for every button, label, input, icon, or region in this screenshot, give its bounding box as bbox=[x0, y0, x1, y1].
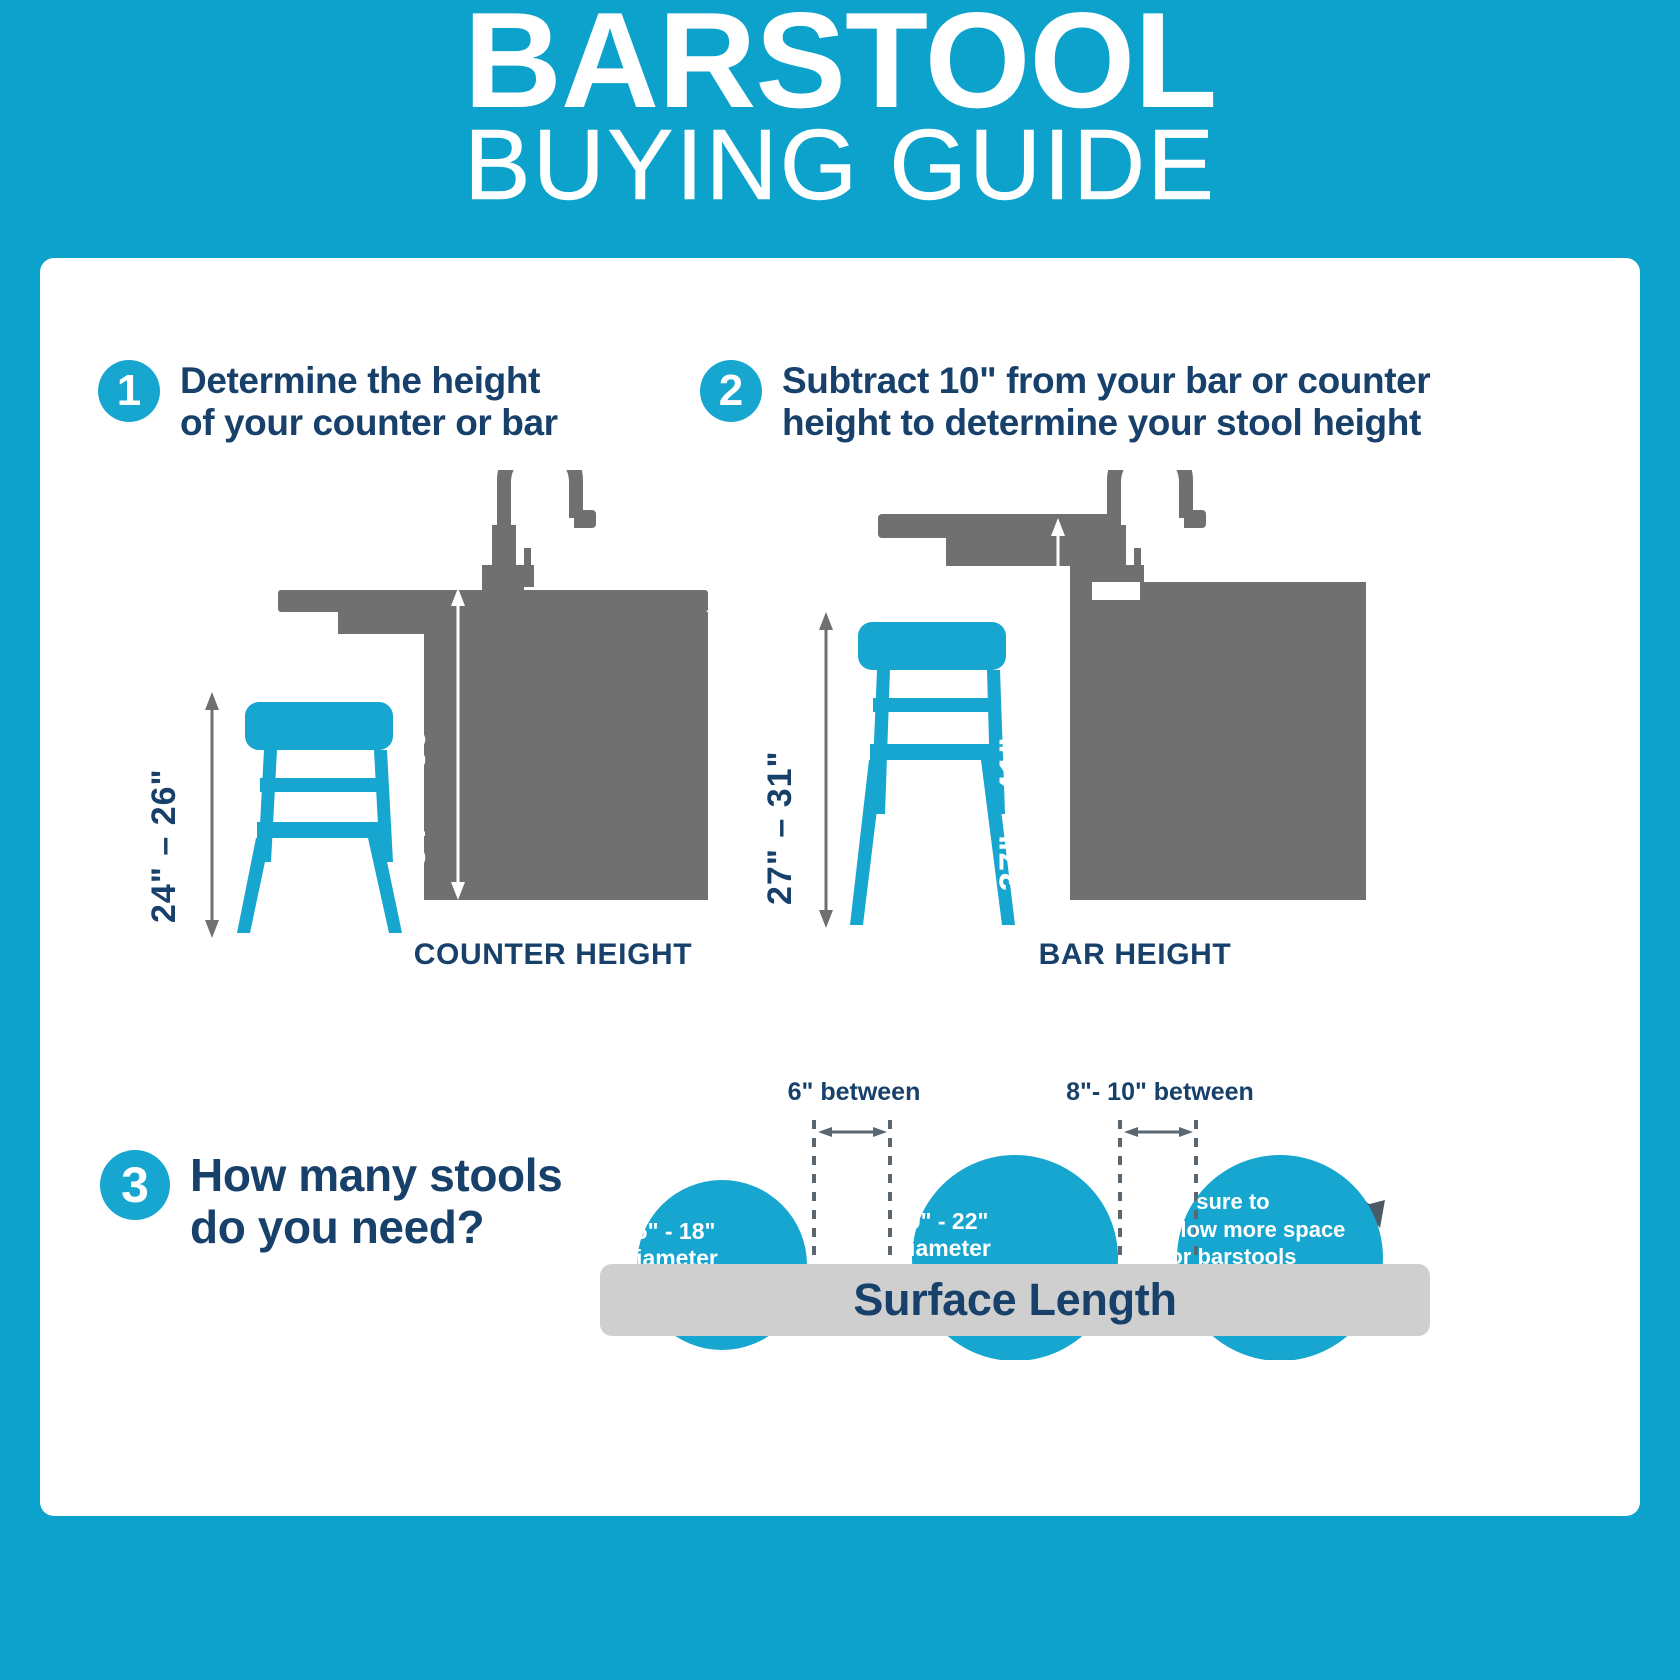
circle-swivel-line-1: Be sure to bbox=[1162, 1188, 1398, 1216]
infographic-page: BARSTOOL BUYING GUIDE 1 Determine the he… bbox=[0, 0, 1680, 1680]
counter-stool-icon bbox=[237, 702, 402, 933]
stool-seat bbox=[858, 622, 1006, 670]
surface-length-label: Surface Length bbox=[853, 1274, 1176, 1325]
bar-height-arrow bbox=[1051, 518, 1065, 900]
circle-swivel-line-2: allow more space bbox=[1162, 1216, 1398, 1244]
bar-counter-body bbox=[1070, 582, 1366, 900]
counter-stool-height-label: 24" – 26" bbox=[145, 768, 184, 923]
step-1-text: Determine the height of your counter or … bbox=[180, 360, 558, 444]
counter-height-label: 34" – 36" bbox=[395, 712, 434, 867]
gap-arrow-2 bbox=[1124, 1127, 1193, 1137]
bar-height-label: 37" – 41" bbox=[993, 736, 1032, 891]
step-2-heading: 2 Subtract 10" from your bar or counter … bbox=[700, 360, 1540, 444]
step-3-text: How many stools do you need? bbox=[190, 1150, 562, 1254]
bar-height-illustration bbox=[770, 470, 1380, 970]
step-1-heading: 1 Determine the height of your counter o… bbox=[98, 360, 658, 444]
step-2-number-badge: 2 bbox=[700, 360, 762, 422]
counter-height-illustration bbox=[160, 470, 740, 970]
stool-rail-lower bbox=[257, 822, 381, 838]
gap-guide-1 bbox=[814, 1120, 890, 1285]
step-1-line-2: of your counter or bar bbox=[180, 402, 558, 444]
bar-counter-notch bbox=[1092, 582, 1140, 600]
gap-arrow-1 bbox=[818, 1127, 887, 1137]
counter-height-caption: COUNTER HEIGHT bbox=[268, 938, 838, 972]
stool-leg-left bbox=[237, 838, 270, 933]
stool-rail-lower bbox=[870, 744, 994, 760]
step-2-line-2: height to determine your stool height bbox=[782, 402, 1430, 444]
surface-length-bar: Surface Length bbox=[600, 1264, 1430, 1336]
stool-height-arrow bbox=[819, 612, 833, 928]
circle-large-line-1: 19" - 22" bbox=[895, 1208, 1135, 1235]
step-2-text: Subtract 10" from your bar or counter he… bbox=[782, 360, 1430, 444]
stool-rail-upper bbox=[260, 778, 378, 792]
step-1-number-badge: 1 bbox=[98, 360, 160, 422]
gap-2-label: 8"- 10" between bbox=[1040, 1078, 1280, 1107]
bar-height-caption: BAR HEIGHT bbox=[850, 938, 1420, 972]
bar-stool-height-label: 27" – 31" bbox=[761, 750, 800, 905]
bar-stool-icon bbox=[850, 622, 1015, 925]
counter-height-diagram: 24" – 26" 34" – 36" bbox=[160, 470, 740, 970]
step-3-line-1: How many stools bbox=[190, 1150, 562, 1202]
stool-seat bbox=[245, 702, 393, 750]
counter-overhang bbox=[278, 590, 708, 612]
step-3-line-2: do you need? bbox=[190, 1202, 562, 1254]
bar-height-diagram: 27" – 31" 37" – 41" bbox=[770, 470, 1380, 970]
stool-circle-large-label: 19" - 22" diameter bbox=[895, 1208, 1135, 1262]
stool-leg-left bbox=[850, 760, 883, 925]
gap-1-label: 6" between bbox=[764, 1078, 944, 1107]
step-2-line-1: Subtract 10" from your bar or counter bbox=[782, 360, 1430, 402]
step-3-number-badge: 3 bbox=[100, 1150, 170, 1220]
faucet-icon bbox=[482, 470, 596, 593]
page-subtitle: BUYING GUIDE bbox=[0, 115, 1680, 215]
stool-rail-upper bbox=[873, 698, 991, 712]
stool-height-arrow bbox=[205, 692, 219, 938]
header-banner: BARSTOOL BUYING GUIDE bbox=[0, 0, 1680, 258]
step-3-heading: 3 How many stools do you need? bbox=[100, 1150, 660, 1254]
circle-small-line-1: 16" - 18" bbox=[622, 1218, 822, 1245]
circle-large-line-2: diameter bbox=[895, 1235, 1135, 1262]
step-1-line-1: Determine the height bbox=[180, 360, 558, 402]
counter-body bbox=[424, 612, 708, 900]
